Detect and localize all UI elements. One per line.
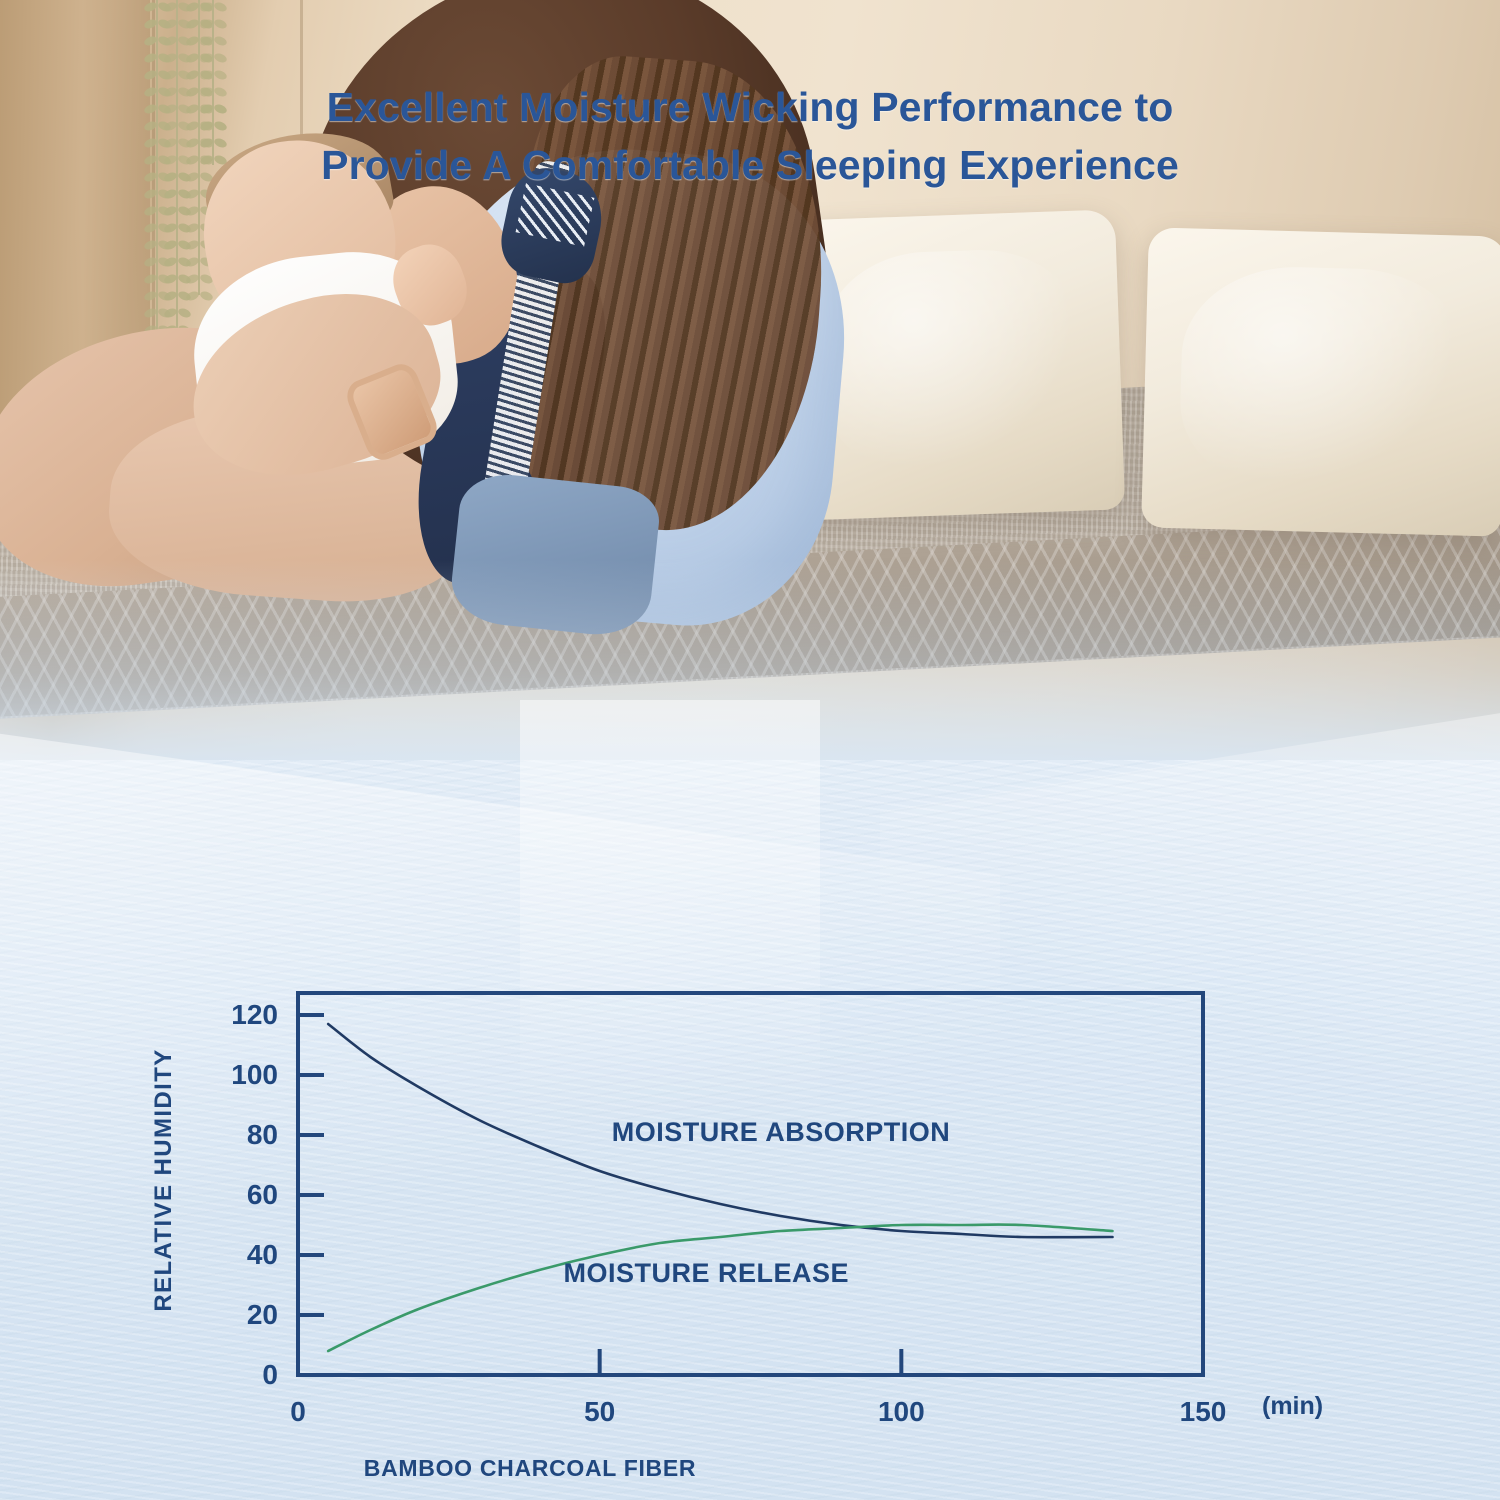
vine-leaf xyxy=(199,290,214,302)
y-axis-tick-label: 100 xyxy=(231,1059,278,1090)
page-title-line-2: Provide A Comfortable Sleeping Experienc… xyxy=(0,136,1500,194)
pillow-highlight xyxy=(1178,264,1472,499)
x-axis-tick-label: 50 xyxy=(584,1396,615,1425)
product-infographic-page: Excellent Moisture Wicking Performance t… xyxy=(0,0,1500,1500)
moisture-wicking-chart: 020406080100120050100150MOISTURE ABSORPT… xyxy=(150,985,1370,1425)
series-label-moisture-release: MOISTURE RELEASE xyxy=(563,1258,849,1288)
y-axis-tick-label: 80 xyxy=(247,1119,278,1150)
vine-leaf xyxy=(185,290,200,302)
pillow xyxy=(1141,227,1500,536)
x-axis-tick-label: 150 xyxy=(1180,1396,1227,1425)
chart-svg: 020406080100120050100150MOISTURE ABSORPT… xyxy=(150,985,1370,1425)
y-axis-tick-label: 120 xyxy=(231,999,278,1030)
x-axis-unit-label: (min) xyxy=(1262,1392,1323,1421)
page-title-line-1: Excellent Moisture Wicking Performance t… xyxy=(0,78,1500,136)
y-axis-tick-label: 40 xyxy=(247,1239,278,1270)
series-label-moisture-absorption: MOISTURE ABSORPTION xyxy=(612,1117,951,1147)
x-axis-tick-label: 100 xyxy=(878,1396,925,1425)
y-axis-tick-label: 20 xyxy=(247,1299,278,1330)
x-axis-tick-label: 0 xyxy=(290,1396,306,1425)
page-title: Excellent Moisture Wicking Performance t… xyxy=(0,78,1500,194)
y-axis-tick-label: 0 xyxy=(262,1359,278,1390)
x-axis-title: BAMBOO CHARCOAL FIBER xyxy=(0,1455,1060,1482)
chart-frame xyxy=(298,993,1203,1375)
vine-leaf xyxy=(177,307,192,319)
y-axis-tick-label: 60 xyxy=(247,1179,278,1210)
pillow-highlight xyxy=(819,246,1091,483)
